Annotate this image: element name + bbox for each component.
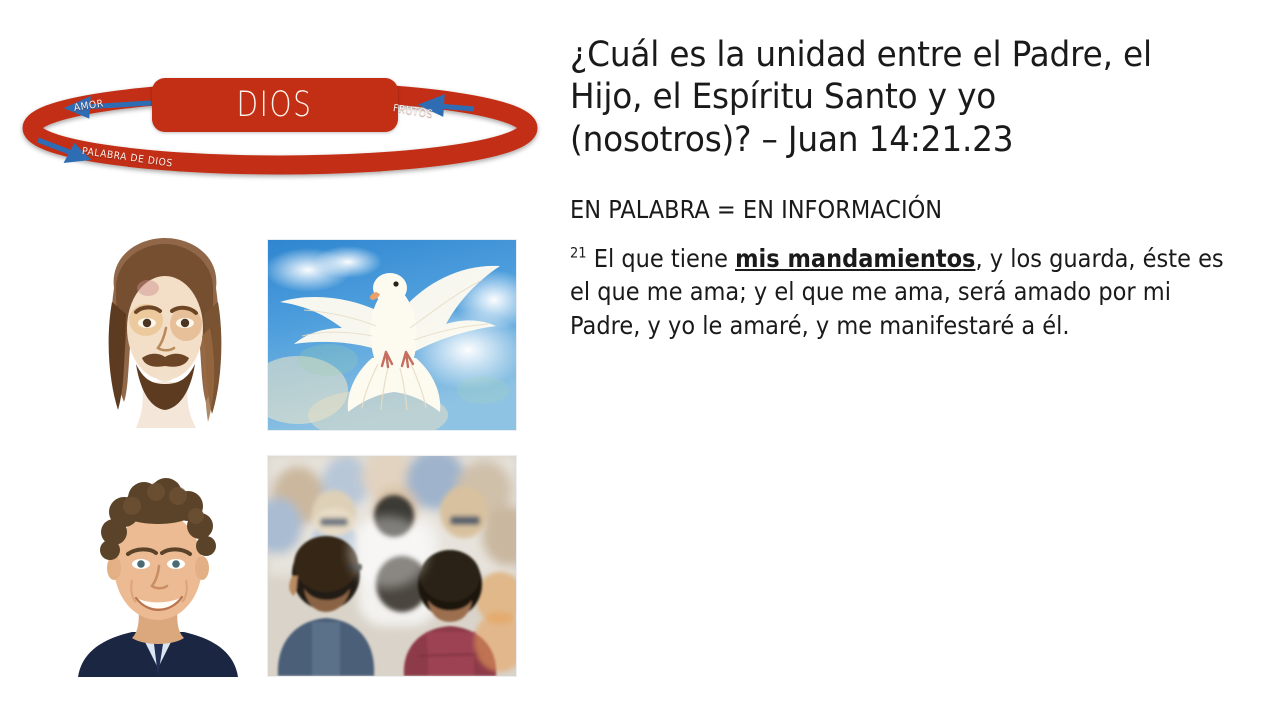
bible-verse-paragraph: 21 El que tiene mis mandamientos, y los … xyxy=(570,242,1227,342)
verse-emphasis: mis mandamientos xyxy=(735,244,975,273)
text-content-column: ¿Cuál es la unidad entre el Padre, el Hi… xyxy=(570,34,1230,342)
verse-number: 21 xyxy=(570,246,587,262)
verse-text-before: El que tiene xyxy=(587,244,735,273)
slide-title: ¿Cuál es la unidad entre el Padre, el Hi… xyxy=(570,34,1187,161)
man-headshot-graphic xyxy=(62,462,254,677)
crowd-of-people-photo xyxy=(268,456,516,676)
dios-label: DIOS xyxy=(237,88,313,123)
white-dove-sky-photo xyxy=(268,240,516,430)
subheading: EN PALABRA = EN INFORMACIÓN xyxy=(570,195,1164,225)
slide-canvas: DIOS AMOR FRUTOS PALABRA DE DIOS xyxy=(0,0,1280,720)
jesus-watercolor-portrait xyxy=(76,232,254,444)
crowd-graphic xyxy=(268,456,516,676)
jesus-watercolor-graphic xyxy=(76,232,254,444)
man-headshot-photo xyxy=(62,462,254,677)
cycle-diagram: DIOS AMOR FRUTOS PALABRA DE DIOS xyxy=(18,62,542,187)
white-dove-graphic xyxy=(268,240,516,430)
dios-center-node: DIOS xyxy=(152,78,398,132)
